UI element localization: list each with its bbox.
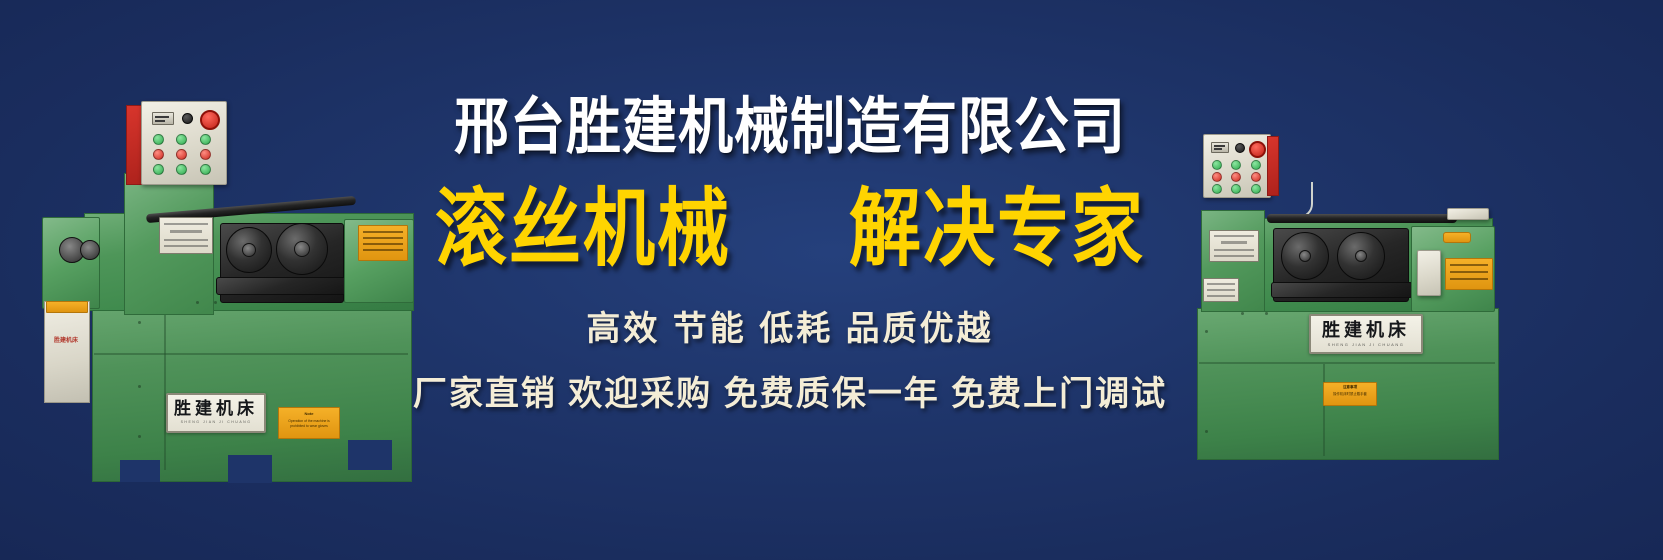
meter-bar — [1214, 148, 1222, 150]
display-meter — [152, 112, 174, 125]
control-button[interactable] — [1212, 172, 1222, 182]
roller-hub — [1299, 250, 1311, 262]
company-name: 邢台胜建机械制造有限公司 — [390, 95, 1190, 160]
cabinet-top-strip — [46, 301, 88, 313]
nameplate-en-right: SHENG JIAN JI CHUANG — [1328, 343, 1405, 347]
control-panel-right — [1203, 134, 1271, 198]
body-bolt — [196, 301, 199, 304]
nameplate-left: 胜建机床 SHENG JIAN JI CHUANG — [166, 393, 266, 433]
base-seam — [164, 295, 166, 470]
control-button[interactable] — [200, 149, 211, 160]
feed-tray-right — [1447, 208, 1489, 220]
base-foot-notch — [228, 455, 272, 483]
roller-base — [216, 277, 350, 295]
control-button[interactable] — [1231, 172, 1241, 182]
spec-line — [164, 223, 208, 225]
body-bolt — [1205, 430, 1208, 433]
meter-bar — [1214, 145, 1225, 147]
control-button[interactable] — [1212, 160, 1222, 170]
body-bolt — [1265, 312, 1268, 315]
thread-rolling-machine-right: 胜建机床 SHENG JIAN JI CHUANG 注意事项 操作机床时禁止戴手… — [1175, 130, 1575, 460]
spec-plate-left — [159, 217, 213, 254]
brass-plate-right — [1445, 258, 1493, 290]
meter-bar — [155, 120, 165, 122]
control-panel-left — [141, 101, 227, 185]
body-bolt — [138, 385, 141, 388]
emergency-stop-button[interactable] — [200, 110, 220, 130]
spec-line — [1214, 235, 1254, 237]
control-button[interactable] — [1251, 172, 1261, 182]
control-button[interactable] — [176, 164, 187, 175]
spec-line — [164, 239, 208, 241]
base-seam — [1323, 364, 1325, 456]
nameplate-right: 胜建机床 SHENG JIAN JI CHUANG — [1309, 314, 1423, 354]
control-button[interactable] — [1231, 184, 1241, 194]
subtitle-features: 高效 节能 低耗 品质优越 — [390, 301, 1190, 350]
spec-line — [164, 245, 208, 247]
base-foot-notch — [348, 440, 392, 470]
nameplate-cn-right: 胜建机床 — [1322, 322, 1410, 340]
spec-line — [1214, 249, 1254, 251]
body-bolt — [138, 321, 141, 324]
body-bolt — [1241, 312, 1244, 315]
spec-plate-small-right — [1203, 278, 1239, 302]
terminal-block-right — [1443, 232, 1471, 243]
warning-sticker-left: Note Operation of the machine is prohibi… — [278, 407, 340, 439]
meter-bar — [155, 116, 169, 118]
warn-line — [1450, 278, 1489, 280]
headline-right: 解决专家 — [849, 187, 1145, 272]
tool-holder-right — [1417, 250, 1441, 296]
display-meter — [1211, 142, 1229, 153]
roller-hub — [1355, 250, 1367, 262]
control-button[interactable] — [200, 164, 211, 175]
control-button[interactable] — [153, 149, 164, 160]
control-button[interactable] — [176, 134, 187, 145]
warning-text-right: 操作机床时禁止戴手套 — [1327, 392, 1373, 397]
control-button[interactable] — [200, 134, 211, 145]
roller-hub — [294, 241, 310, 257]
control-button[interactable] — [176, 149, 187, 160]
warn-line — [1450, 264, 1489, 266]
roller-hub — [242, 243, 256, 257]
control-button[interactable] — [1231, 160, 1241, 170]
machine-end-block-left — [42, 217, 100, 309]
thread-rolling-machine-left: 胜建机床 胜建机床 SHENG JIAN JI CHUANG Note Oper… — [28, 95, 413, 485]
control-button[interactable] — [153, 164, 164, 175]
selector-knob[interactable] — [1235, 143, 1245, 153]
spec-line — [170, 230, 201, 233]
headline-left: 滚丝机械 — [435, 187, 731, 272]
subtitle-services: 厂家直销 欢迎采购 免费质保一年 免费上门调试 — [390, 366, 1190, 415]
drive-shaft-end — [80, 240, 100, 260]
cable-hose — [1275, 182, 1313, 218]
base-foot-notch — [120, 460, 160, 482]
spec-line — [1214, 255, 1254, 257]
control-button[interactable] — [153, 134, 164, 145]
promotional-banner: 胜建机床 胜建机床 SHENG JIAN JI CHUANG Note Oper… — [0, 0, 1663, 560]
body-bolt — [1205, 330, 1208, 333]
warn-line — [1450, 271, 1489, 273]
control-button[interactable] — [1251, 160, 1261, 170]
electrical-cabinet-left — [44, 301, 90, 403]
roller-base — [1271, 282, 1413, 298]
spec-line — [1207, 283, 1236, 285]
cabinet-label-left: 胜建机床 — [44, 337, 88, 345]
body-bolt — [214, 301, 217, 304]
spec-line — [1221, 241, 1248, 244]
warning-sticker-right: 注意事项 操作机床时禁止戴手套 — [1323, 382, 1377, 406]
base-seam — [94, 353, 408, 355]
warning-label-right: 注意事项 — [1324, 385, 1376, 390]
headline-row: 滚丝机械 解决专家 — [390, 187, 1190, 259]
spec-line — [1207, 289, 1236, 291]
tie-bar — [1267, 214, 1457, 223]
body-bolt — [138, 435, 141, 438]
warning-text-left: Operation of the machine is prohibited t… — [283, 419, 335, 429]
nameplate-en-left: SHENG JIAN JI CHUANG — [181, 421, 252, 425]
emergency-stop-button[interactable] — [1249, 141, 1266, 158]
base-seam — [1199, 362, 1495, 364]
selector-knob[interactable] — [182, 113, 193, 124]
spec-plate-right — [1209, 230, 1259, 262]
nameplate-cn-left: 胜建机床 — [174, 401, 258, 418]
control-button[interactable] — [1212, 184, 1222, 194]
warning-label-left: Note — [279, 411, 339, 416]
control-button[interactable] — [1251, 184, 1261, 194]
spec-line — [1207, 295, 1236, 297]
banner-text-block: 邢台胜建机械制造有限公司 滚丝机械 解决专家 高效 节能 低耗 品质优越 厂家直… — [390, 95, 1190, 415]
